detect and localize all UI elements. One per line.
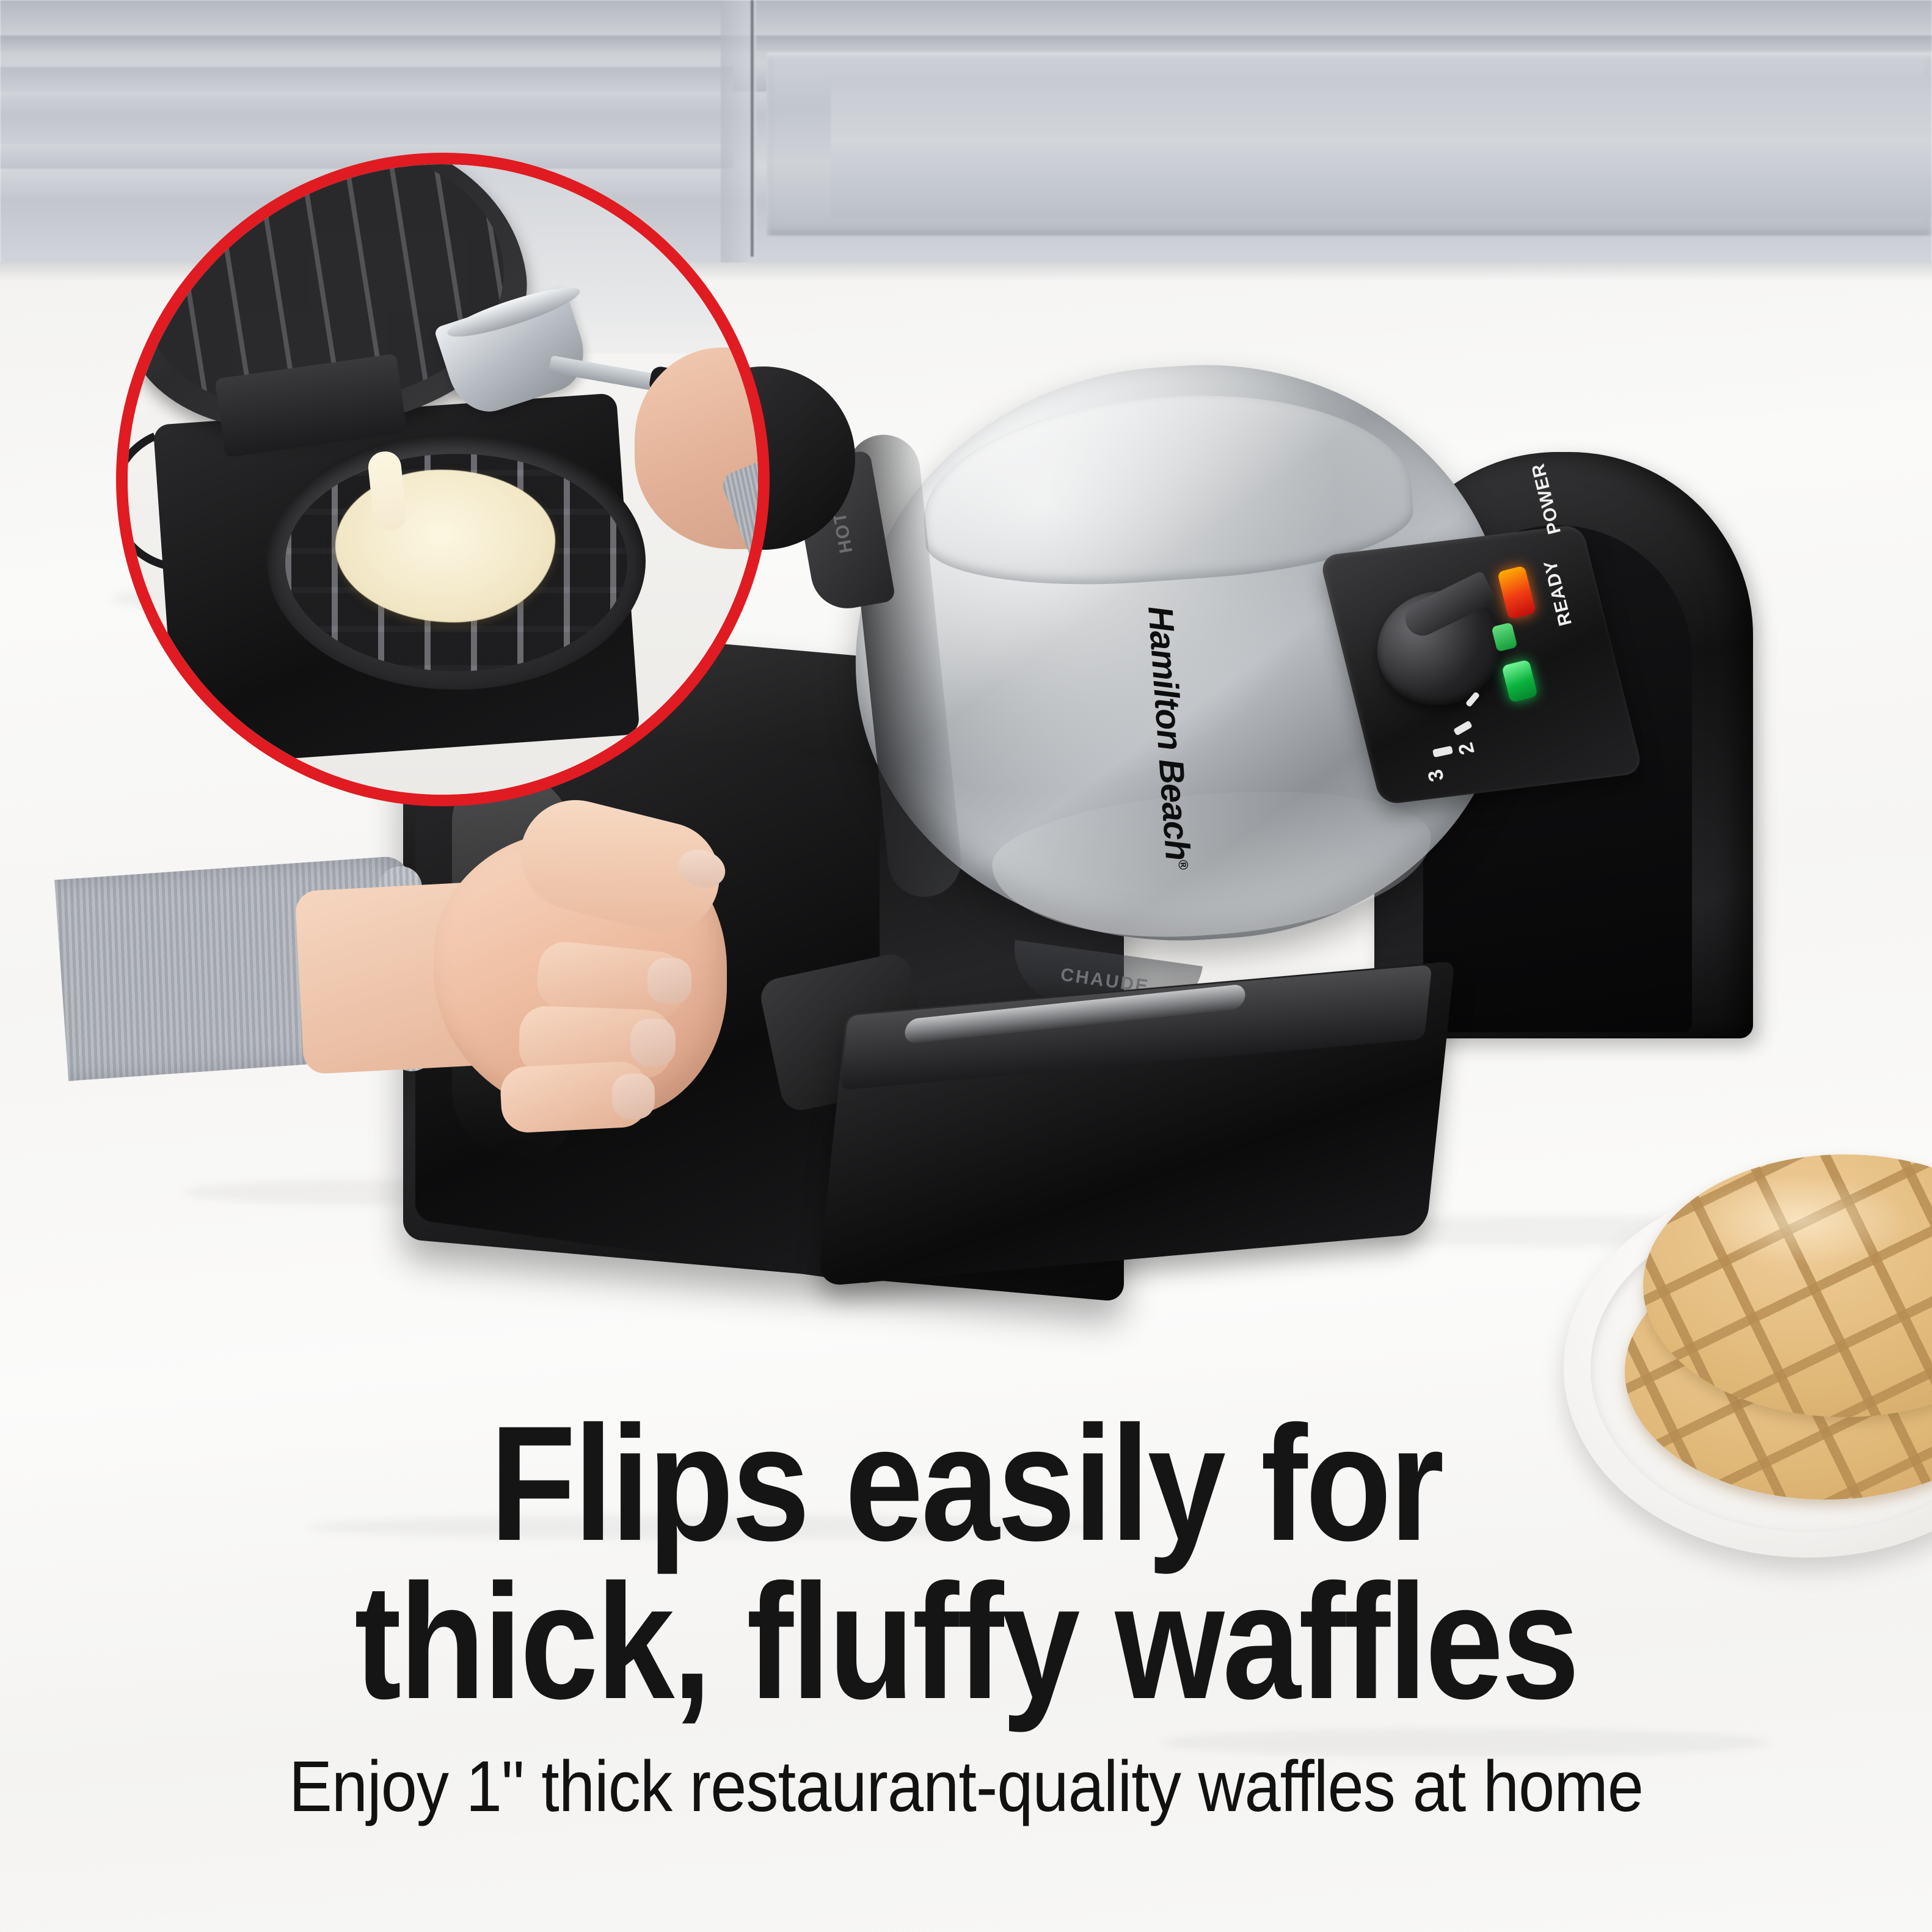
marketing-copy: Flips easily for thick, fluffy waffles E… — [0, 1405, 1932, 1828]
waffle-top — [1643, 1154, 1932, 1417]
product-marketing-image: HOT CHAUDE Hamilton Beach® POWER READY 2… — [0, 0, 1932, 1932]
cabinet-left-rail — [0, 67, 733, 95]
headline-line-1: Flips easily for — [135, 1405, 1796, 1562]
cabinet-rail-shadow — [0, 35, 1932, 51]
pouring-batter-inset — [116, 153, 770, 806]
cabinet-rail-top — [0, 0, 1932, 35]
waffle-highlight — [1691, 1175, 1909, 1264]
fingernail-index — [647, 958, 691, 1004]
hand-gripping-handle — [318, 794, 745, 1173]
fingernail-middle — [630, 1019, 676, 1066]
brand-registered-mark: ® — [1175, 859, 1191, 870]
headline-line-2: thick, fluffy waffles — [135, 1563, 1796, 1720]
subheadline: Enjoy 1" thick restaurant-quality waffle… — [97, 1745, 1835, 1828]
fingernail-ring — [612, 1074, 655, 1119]
cabinet-door-inner-panel — [831, 77, 1932, 217]
